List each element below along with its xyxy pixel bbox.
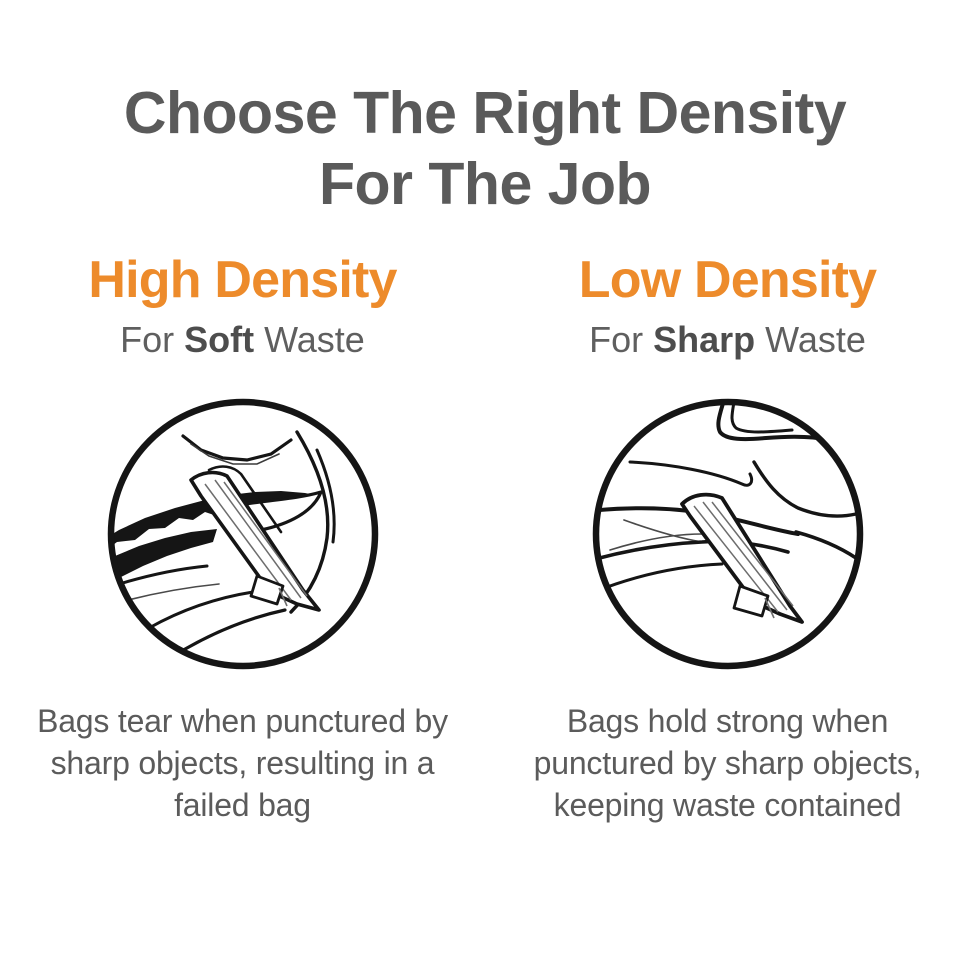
page-title-line-2: For The Job xyxy=(0,149,970,220)
high-density-subtitle-strong: Soft xyxy=(184,319,254,360)
low-density-subtitle-strong: Sharp xyxy=(653,319,755,360)
high-density-subtitle-suffix: Waste xyxy=(254,319,365,360)
comparison-columns: High Density For Soft Waste xyxy=(0,250,970,826)
torn-bag-punctured-circle-illustration xyxy=(105,396,381,672)
column-high-density: High Density For Soft Waste xyxy=(0,250,485,826)
high-density-heading: High Density xyxy=(88,250,396,310)
intact-bag-punctured-circle-illustration xyxy=(590,396,866,672)
low-density-subtitle-suffix: Waste xyxy=(755,319,866,360)
low-density-subtitle-prefix: For xyxy=(589,319,653,360)
high-density-subtitle: For Soft Waste xyxy=(120,318,365,362)
high-density-caption: Bags tear when punctured by sharp object… xyxy=(33,700,453,826)
column-low-density: Low Density For Sharp Waste xyxy=(485,250,970,826)
page-title-line-1: Choose The Right Density xyxy=(0,78,970,149)
high-density-subtitle-prefix: For xyxy=(120,319,184,360)
page-title: Choose The Right Density For The Job xyxy=(0,78,970,220)
low-density-heading: Low Density xyxy=(579,250,876,310)
low-density-caption: Bags hold strong when punctured by sharp… xyxy=(518,700,938,826)
low-density-subtitle: For Sharp Waste xyxy=(589,318,866,362)
density-comparison-infographic: Choose The Right Density For The Job Hig… xyxy=(0,0,970,971)
